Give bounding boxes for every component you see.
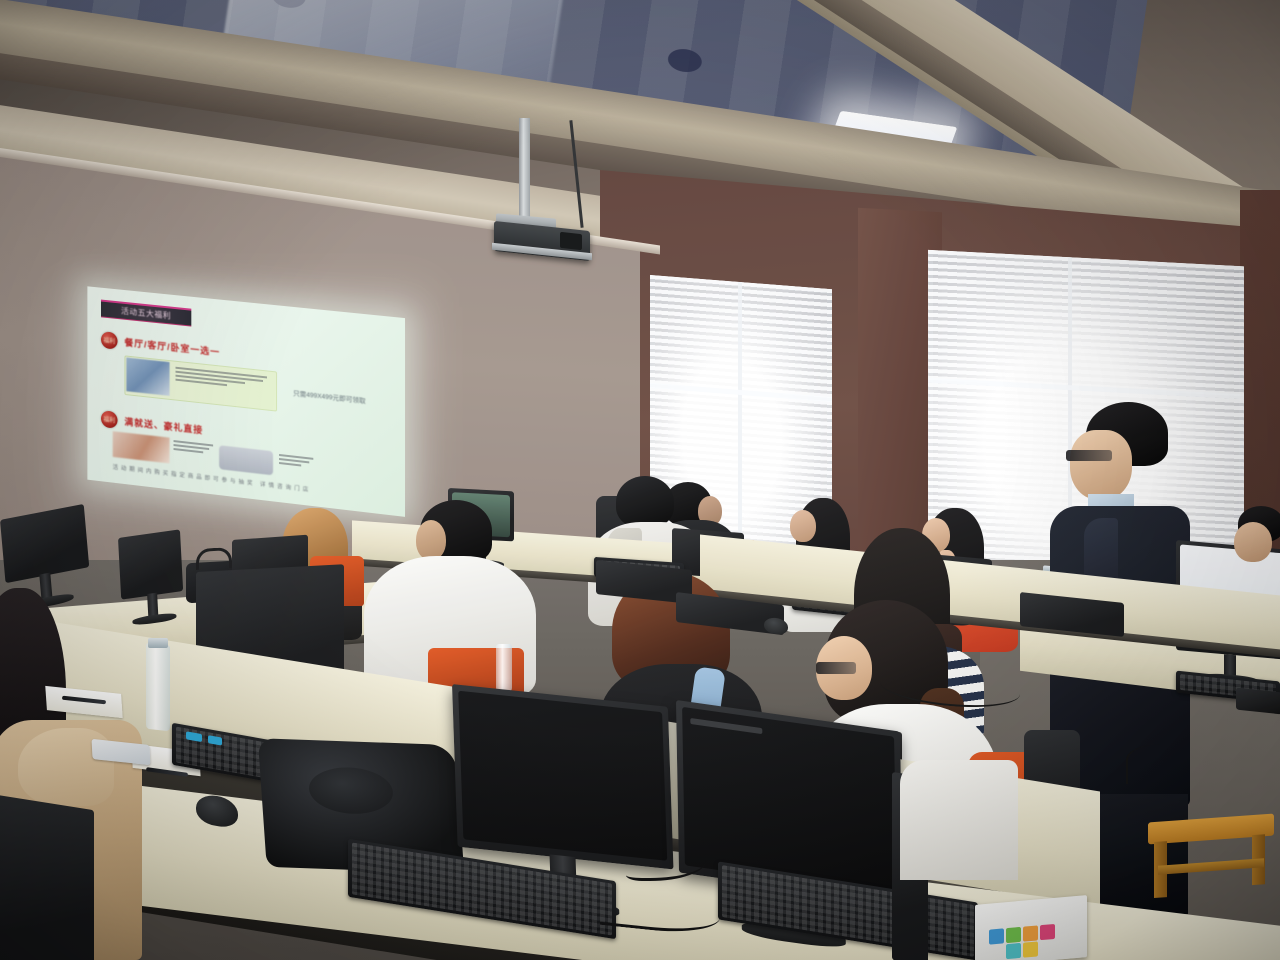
- slide-side-note: 只需499X499元即可领取: [293, 387, 366, 405]
- eyeglasses: [816, 662, 856, 674]
- water-bottle[interactable]: [146, 643, 170, 732]
- cable: [1126, 744, 1218, 784]
- stool-rail: [1158, 858, 1264, 874]
- slide-product-image-2: [113, 431, 170, 463]
- tote-square-orange: [1023, 925, 1038, 941]
- water-bottle-cap: [148, 638, 168, 648]
- eyeglasses: [1066, 450, 1112, 461]
- handbag-handle: [196, 547, 232, 570]
- slide-product-image-3: [219, 445, 273, 475]
- light-shirt: [900, 760, 1018, 880]
- slide-bullet-badge-2: 福利: [101, 410, 118, 429]
- slide-title-text: 活动五大福利: [121, 306, 171, 322]
- projector-mount-pole: [519, 118, 530, 223]
- slide-product-image-1: [126, 358, 169, 396]
- wooden-stool[interactable]: [1148, 814, 1274, 893]
- blind-center-cord: [738, 282, 742, 566]
- slide-bullet-headline-1: 餐厅/客厅/卧室一选一: [124, 336, 220, 359]
- projected-slide: 活动五大福利 福利 餐厅/客厅/卧室一选一 只需499X499元即可领取 福利 …: [87, 286, 405, 517]
- water-bottle[interactable]: [496, 644, 512, 692]
- slide-bullet-badge-2-text: 福利: [101, 410, 118, 429]
- tote-square-blue: [989, 928, 1004, 944]
- classroom-photo: 活动五大福利 福利 餐厅/客厅/卧室一选一 只需499X499元即可领取 福利 …: [0, 0, 1280, 960]
- projector-lens: [560, 232, 582, 250]
- slide-bullet-badge-1: 福利: [101, 331, 118, 350]
- slide-body-text-2a: [174, 440, 214, 456]
- slide-body-text-2b: [279, 454, 313, 470]
- tote-bag[interactable]: [975, 895, 1087, 960]
- backpack-pocket: [307, 766, 394, 815]
- tote-square-green: [1006, 927, 1021, 943]
- tote-square-pink: [1040, 924, 1055, 940]
- tote-square-yellow: [1023, 941, 1038, 957]
- slide-title-banner: 活动五大福利: [101, 300, 191, 327]
- slide-bullet-badge-1-text: 福利: [101, 331, 118, 350]
- tote-square-teal: [1006, 943, 1021, 959]
